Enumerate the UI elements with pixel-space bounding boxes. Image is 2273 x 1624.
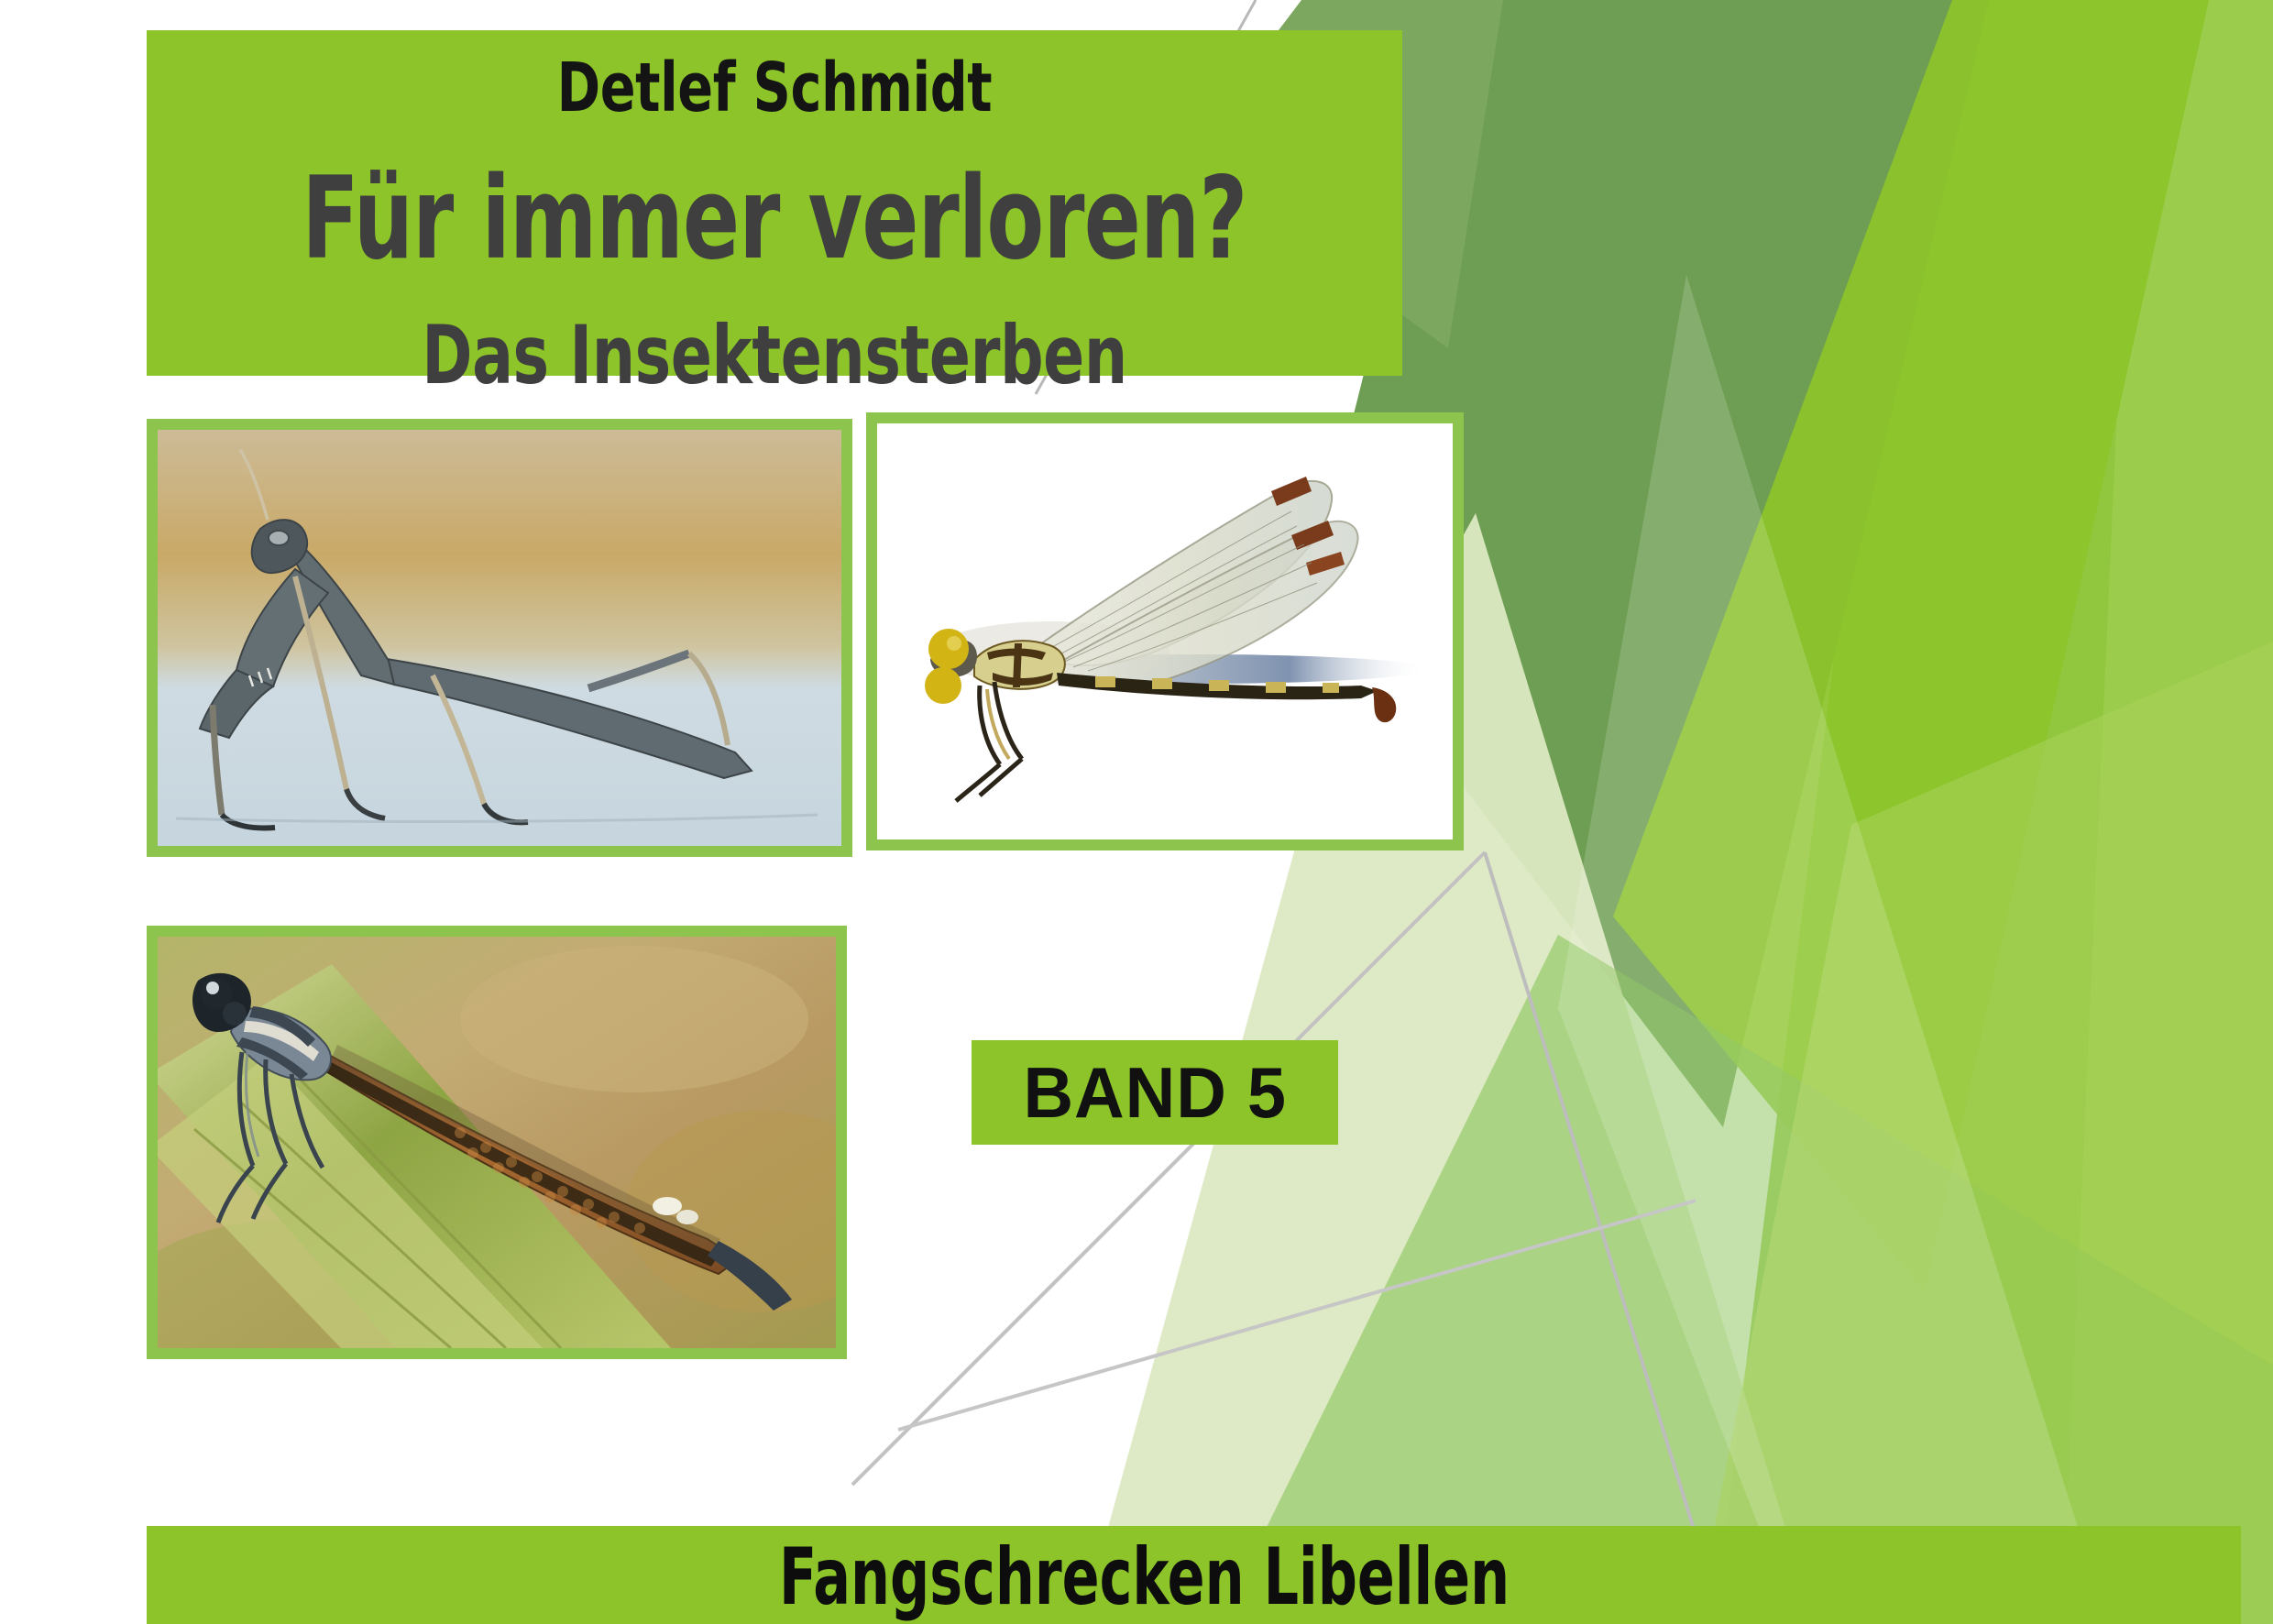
damselfly-white-background-photo: [866, 412, 1464, 850]
damselfly-on-leaf-photo-image: [158, 937, 836, 1348]
title-banner: Detlef Schmidt Für immer verloren? Das I…: [147, 30, 1402, 376]
damselfly-on-leaf-photo: [147, 926, 847, 1359]
bottom-banner: Fangschrecken Libellen: [147, 1526, 2241, 1624]
damselfly-white-background-photo-image: [877, 423, 1453, 839]
book-cover: Detlef Schmidt Für immer verloren? Das I…: [0, 0, 2273, 1624]
author-name: Detlef Schmidt: [557, 54, 993, 123]
praying-mantis-photo-image: [158, 430, 841, 846]
page-title: Für immer verloren?: [302, 161, 1246, 277]
praying-mantis-photo: [147, 419, 852, 857]
subtitle: Das Insektensterben: [422, 314, 1127, 397]
bottom-banner-label: Fangschrecken Libellen: [779, 1538, 1510, 1617]
volume-badge-label: BAND 5: [1023, 1051, 1286, 1135]
volume-badge: BAND 5: [972, 1040, 1338, 1145]
